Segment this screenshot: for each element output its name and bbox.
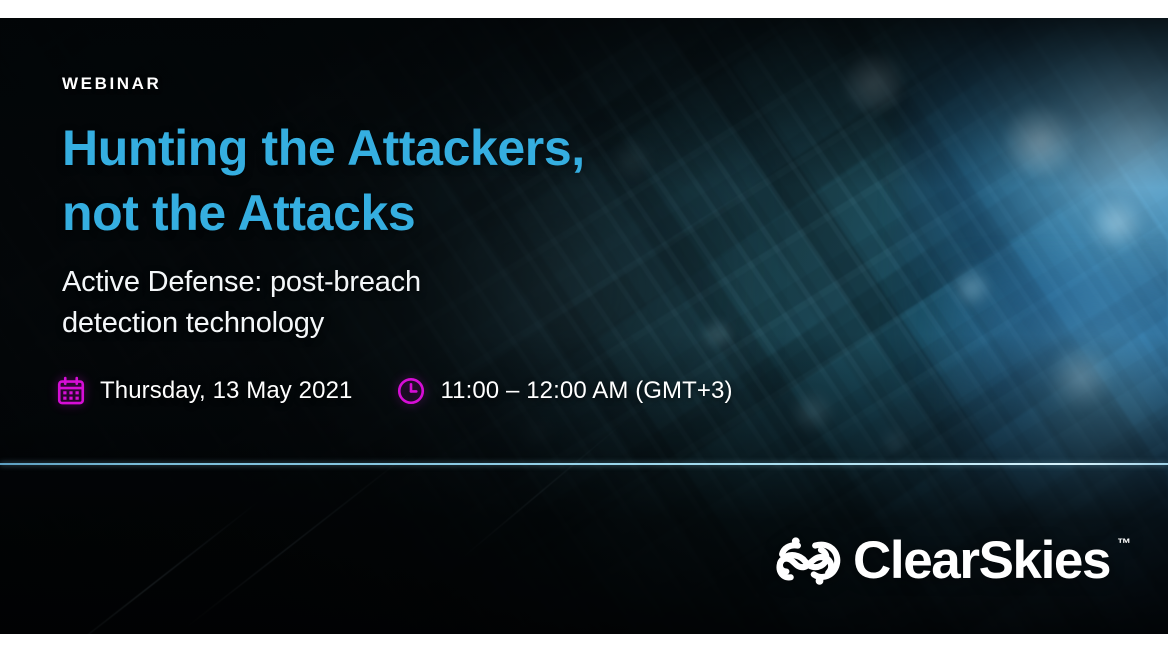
clearskies-wordmark: ClearSkies ™ — [853, 534, 1110, 587]
event-date: Thursday, 13 May 2021 — [56, 376, 352, 406]
clock-icon — [396, 376, 426, 406]
event-time: 11:00 – 12:00 AM (GMT+3) — [396, 376, 732, 406]
headline: Hunting the Attackers, not the Attacks — [62, 116, 585, 246]
clearskies-logo: ClearSkies ™ — [772, 524, 1110, 596]
clearskies-swirl-icon — [772, 524, 844, 596]
subheadline: Active Defense: post-breach detection te… — [62, 262, 421, 344]
clearskies-wordmark-text: ClearSkies — [853, 531, 1110, 590]
subheadline-line-1: Active Defense: post-breach — [62, 262, 421, 303]
divider-rule — [0, 463, 1168, 465]
page-frame: WEBINAR Hunting the Attackers, not the A… — [0, 0, 1168, 656]
trademark-symbol: ™ — [1117, 536, 1131, 550]
eyebrow-label: WEBINAR — [62, 74, 161, 94]
event-date-text: Thursday, 13 May 2021 — [100, 377, 352, 405]
headline-line-2: not the Attacks — [62, 181, 585, 246]
subheadline-line-2: detection technology — [62, 303, 421, 344]
webinar-banner: WEBINAR Hunting the Attackers, not the A… — [0, 18, 1168, 634]
event-time-text: 11:00 – 12:00 AM (GMT+3) — [440, 377, 732, 405]
calendar-icon — [56, 376, 86, 406]
headline-line-1: Hunting the Attackers, — [62, 116, 585, 181]
event-meta-row: Thursday, 13 May 2021 11:00 – 12:00 AM (… — [56, 376, 733, 406]
